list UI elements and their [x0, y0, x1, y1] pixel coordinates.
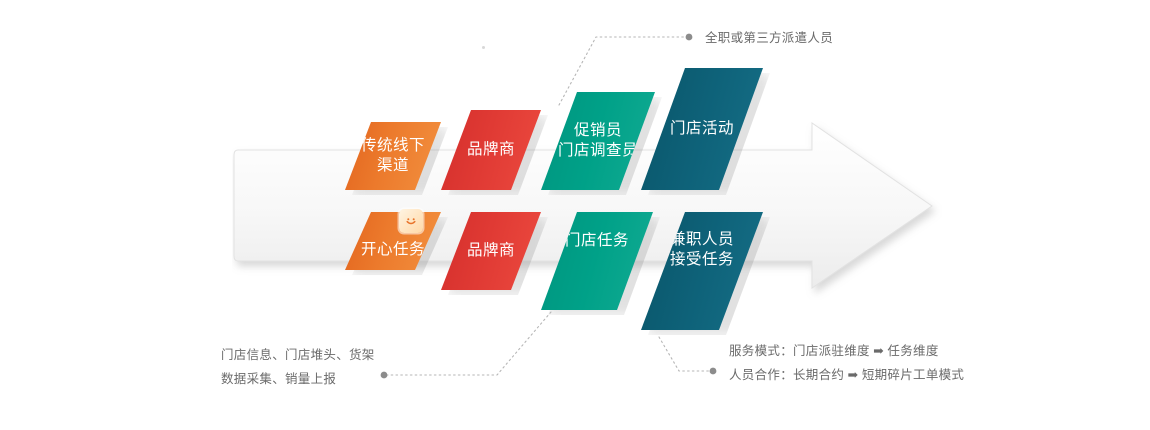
- smiley-face-icon: [399, 209, 423, 233]
- annotation-line: 数据采集、销量上报: [221, 367, 375, 391]
- annotation-line: 人员合作：长期合约 ➡ 短期碎片工单模式: [729, 363, 964, 387]
- block-label: 兼职人员 接受任务: [670, 230, 734, 270]
- annotation-line: 全职或第三方派遣人员: [705, 26, 833, 50]
- block-label: 品牌商: [467, 140, 515, 160]
- block-label: 门店任务: [565, 231, 629, 251]
- connector-dot-bottom-left: [381, 372, 388, 379]
- diagram-canvas: 传统线下 渠道 品牌商 促销员 门店调查员 门店活动 开心任务 品牌商 门店任务…: [0, 0, 1150, 430]
- annotation-line: 门店信息、门店堆头、货架: [221, 343, 375, 367]
- annotation-line: 服务模式：门店派驻维度 ➡ 任务维度: [729, 339, 964, 363]
- annotation-bottom-left: 门店信息、门店堆头、货架 数据采集、销量上报: [221, 343, 375, 392]
- connector-dot-top-right: [686, 34, 693, 41]
- connector-bottom-left: [386, 312, 551, 375]
- connector-dot-bottom-right: [710, 368, 717, 375]
- decorative-speck: [482, 46, 485, 49]
- block-label: 开心任务: [361, 240, 425, 260]
- block-label: 品牌商: [467, 241, 515, 261]
- connector-bottom-right: [659, 337, 712, 371]
- block-label: 门店活动: [670, 119, 734, 139]
- block-label: 传统线下 渠道: [361, 136, 425, 176]
- annotation-top-right: 全职或第三方派遣人员: [705, 26, 833, 50]
- block-label: 促销员 门店调查员: [558, 121, 638, 161]
- annotation-bottom-right: 服务模式：门店派驻维度 ➡ 任务维度 人员合作：长期合约 ➡ 短期碎片工单模式: [729, 339, 964, 388]
